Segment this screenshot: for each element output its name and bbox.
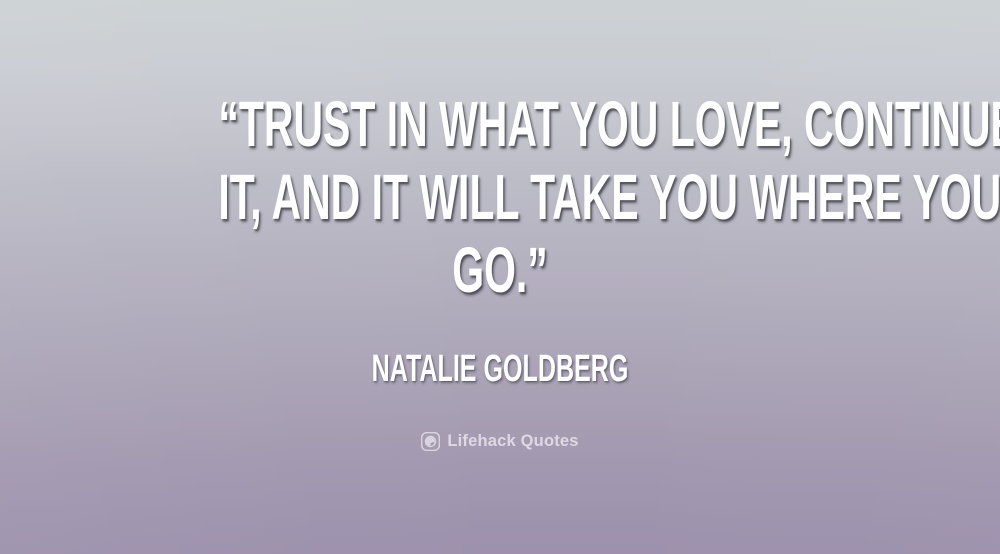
quote-image-canvas: “TRUST IN WHAT YOU LOVE, CONTINUE TO DO … (0, 0, 1000, 554)
lifehack-spiral-icon (421, 432, 440, 451)
quote-line-3: GO.” (218, 234, 781, 307)
quote-author: NATALIE GOLDBERG (170, 348, 830, 390)
quote-text-block: “TRUST IN WHAT YOU LOVE, CONTINUE TO DO … (0, 88, 1000, 307)
quote-line-2: IT, AND IT WILL TAKE YOU WHERE YOU NEED … (218, 161, 781, 234)
brand-watermark: Lifehack Quotes (0, 432, 1000, 451)
brand-name-label: Lifehack Quotes (447, 432, 578, 451)
quote-line-1: “TRUST IN WHAT YOU LOVE, CONTINUE TO DO (218, 88, 781, 161)
